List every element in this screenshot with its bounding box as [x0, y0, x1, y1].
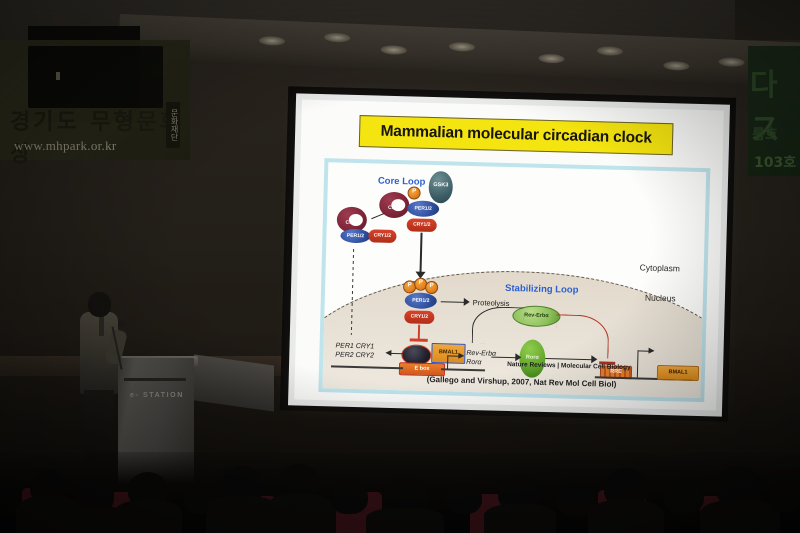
- ror-output-arrowhead: [591, 355, 597, 363]
- audience-head: [446, 482, 482, 514]
- right-sign-label: 룸호: [752, 124, 778, 144]
- complex-formation-arrow: [371, 213, 384, 220]
- cry-label-2: CRY1/2: [407, 221, 437, 228]
- phospho-label: P: [409, 188, 420, 194]
- per-label-2: PER1/2: [407, 205, 439, 212]
- repression-bar: [410, 338, 428, 341]
- cry-protein-bound: CRY1/2: [407, 218, 437, 232]
- nr-promoter-arrowhead: [458, 353, 464, 359]
- bmal1-gene-label: BMAL1: [658, 369, 698, 376]
- slide-title: Mammalian molecular circadian clock: [380, 123, 652, 148]
- speaker-tie: [99, 316, 104, 336]
- phospho-group-cyto: P: [407, 186, 420, 199]
- slide-title-banner: Mammalian molecular circadian clock: [359, 115, 674, 155]
- audience: [0, 452, 800, 533]
- left-wall-banner: 경기도 무형문화상 www.mhpark.or.kr 문화재단: [0, 40, 190, 160]
- cry-protein-nuclear: CRY1/2: [404, 310, 434, 324]
- per-protein-bound: PER1/2: [407, 200, 439, 217]
- banner-vertical-text: 문화재단: [166, 102, 180, 148]
- ror-input-arrowhead: [515, 353, 521, 361]
- audience-head: [330, 480, 368, 514]
- target-genes-line1: PER1 CRY1: [335, 342, 374, 350]
- phospho-label-n3: P: [426, 283, 437, 289]
- ck1e-label: CK1ε: [337, 219, 367, 226]
- downlight: [663, 61, 689, 71]
- audience-shoulders: [588, 500, 664, 533]
- lecture-hall-photo: 경기도 무형문화상 www.mhpark.or.kr 문화재단 다 ス 룸호 1…: [0, 0, 800, 533]
- bmal1-gene-box: BMAL1: [657, 365, 699, 381]
- cry-label: CRY1/2: [368, 232, 396, 239]
- audience-shoulders: [484, 504, 556, 533]
- nucleus-label: Nucleus: [645, 293, 676, 304]
- gsk3-protein: GSK3: [428, 171, 453, 204]
- per-protein-free: PER1/2: [340, 229, 370, 244]
- audience-shoulders: [366, 508, 444, 533]
- gsk3-label: GSK3: [429, 182, 453, 189]
- audience-head: [664, 478, 704, 514]
- per-label-3: PER1/2: [405, 297, 437, 304]
- cry-label-3: CRY1/2: [404, 313, 434, 320]
- downlight: [449, 42, 475, 52]
- cry-protein-free: CRY1/2: [368, 229, 396, 243]
- right-upper-panel: [735, 0, 800, 40]
- ck1e-label-2: CK1ε: [379, 205, 409, 212]
- podium-slot: [124, 378, 186, 381]
- audience-shoulders: [114, 500, 182, 533]
- projection-screen: Mammalian molecular circadian clock Core…: [288, 93, 730, 416]
- core-loop-label: Core Loop: [378, 176, 426, 188]
- downlight: [718, 57, 744, 67]
- per-protein-nuclear: PER1/2: [405, 292, 437, 309]
- nr-genes-line2: Rorα: [466, 359, 481, 366]
- speaker-head: [88, 292, 111, 317]
- proteolysis-arrowhead: [464, 298, 470, 306]
- cytoplasm-label: Cytoplasm: [640, 262, 680, 273]
- banner-korean-text: 경기도 무형문화상: [10, 104, 185, 140]
- right-wall-sign: 다 ス 룸호 103호: [748, 46, 800, 176]
- per-label: PER1/2: [340, 233, 370, 240]
- downlight: [381, 45, 407, 55]
- e-box-label: E box: [400, 365, 444, 372]
- clock-gene-targets: PER1 CRY1 PER2 CRY2: [335, 342, 374, 361]
- bmal1-promoter-arrowhead: [648, 348, 654, 354]
- downlight: [259, 36, 285, 46]
- right-sign-room-number: 103호: [754, 152, 796, 172]
- ror-label: Rorα: [519, 354, 545, 361]
- downlight: [324, 33, 350, 43]
- stabilizing-loop-label: Stabilizing Loop: [505, 283, 579, 296]
- nuclear-receptor-genes: Rev-Erbα Rorα: [466, 350, 496, 368]
- target-genes-line2: PER2 CRY2: [335, 351, 374, 359]
- podium-logo: e- STATION: [130, 392, 184, 399]
- audience-shoulders: [700, 500, 780, 533]
- banner-black-box: [28, 46, 163, 108]
- translocation-arrow: [420, 233, 423, 273]
- presentation-slide: Mammalian molecular circadian clock Core…: [294, 100, 724, 411]
- gene-output-arrow: [390, 353, 402, 355]
- audience-head: [770, 480, 800, 512]
- downlight: [597, 46, 623, 56]
- audience-shoulders: [264, 494, 336, 533]
- microphone-head: [118, 320, 125, 327]
- banner-url: www.mhpark.or.kr: [14, 138, 117, 154]
- downlight: [538, 54, 564, 64]
